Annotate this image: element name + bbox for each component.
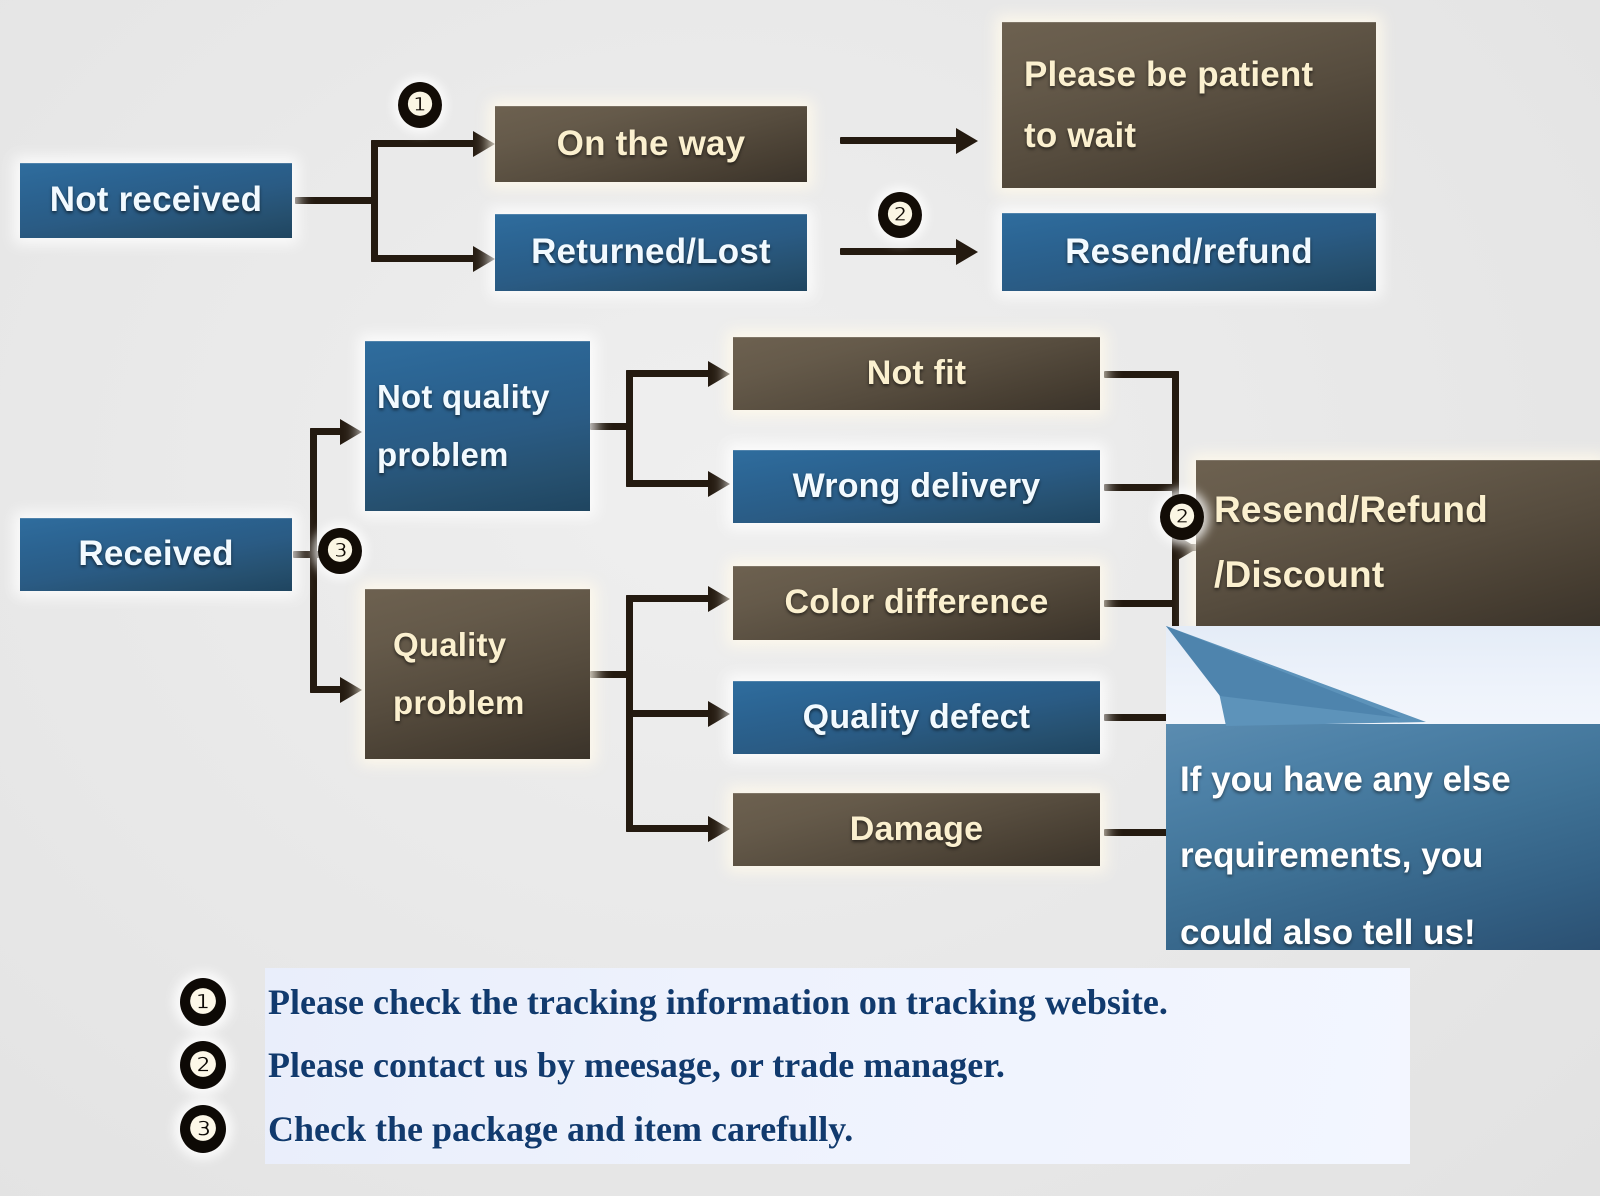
- node-not-fit[interactable]: Not fit: [733, 337, 1100, 410]
- legend-number-3: ❸: [180, 1105, 226, 1153]
- connector-to-wrong-delivery: [626, 480, 714, 487]
- callout-text-box[interactable]: If you have any else requirements, you c…: [1166, 724, 1600, 950]
- flowchart-canvas: Not received ❶ On the way Returned/Lost …: [0, 0, 1600, 1196]
- arrowhead-to-color-difference: [708, 586, 730, 612]
- node-quality-problem-label: Quality problem: [393, 616, 562, 732]
- node-resend-refund-discount-label: Resend/Refund /Discount: [1214, 478, 1582, 608]
- quality-line-2: problem: [393, 684, 525, 721]
- node-on-the-way[interactable]: On the way: [495, 106, 807, 182]
- arrowhead-to-not-quality: [340, 419, 362, 445]
- arrowhead-to-quality-defect: [708, 701, 730, 727]
- node-quality-problem[interactable]: Quality problem: [365, 589, 590, 759]
- node-resend-refund[interactable]: Resend/refund: [1002, 213, 1376, 291]
- node-please-be-patient[interactable]: Please be patient to wait: [1002, 22, 1376, 188]
- node-not-received[interactable]: Not received: [20, 163, 292, 238]
- node-not-quality-problem[interactable]: Not quality problem: [365, 341, 590, 511]
- node-damage[interactable]: Damage: [733, 793, 1100, 866]
- connector-to-returned-lost: [371, 255, 479, 262]
- step-marker-2-middle: ❷: [1160, 494, 1204, 540]
- connector-not-fit-out: [1104, 371, 1179, 378]
- legend-number-2: ❷: [180, 1041, 226, 1089]
- arrowhead-to-returned-lost: [473, 246, 495, 272]
- connector-returned-to-resend: [840, 248, 962, 255]
- connector-to-damage: [626, 825, 714, 832]
- arrowhead-to-quality: [340, 677, 362, 703]
- connector-not-received-vertical: [371, 140, 378, 262]
- legend-row-2: ❷ Please contact us by meesage, or trade…: [180, 1041, 1005, 1089]
- step-marker-1-top: ❶: [398, 82, 442, 128]
- connector-received-vertical: [310, 428, 317, 693]
- arrowhead-to-on-the-way: [473, 131, 495, 157]
- node-color-difference-label: Color difference: [733, 581, 1100, 625]
- node-received[interactable]: Received: [20, 518, 292, 591]
- callout-line-1: If you have any else: [1180, 742, 1588, 818]
- quality-line-1: Quality: [393, 626, 506, 663]
- node-resend-refund-discount[interactable]: Resend/Refund /Discount: [1196, 460, 1600, 626]
- node-returned-lost-label: Returned/Lost: [495, 230, 807, 275]
- connector-wrong-delivery-out: [1104, 484, 1179, 491]
- connector-not-received-stub: [295, 197, 375, 204]
- legend-row-1: ❶ Please check the tracking information …: [180, 978, 1168, 1026]
- callout-line-3: could also tell us!: [1180, 895, 1588, 971]
- node-not-received-label: Not received: [20, 178, 292, 223]
- node-wrong-delivery-label: Wrong delivery: [733, 465, 1100, 509]
- connector-on-the-way-to-wait: [840, 137, 962, 144]
- node-resend-refund-label: Resend/refund: [1002, 230, 1376, 275]
- connector-to-not-fit: [626, 370, 714, 377]
- connector-to-color-difference: [626, 595, 714, 602]
- arrowhead-returned-to-resend: [956, 239, 978, 265]
- patient-line-1: Please be patient: [1024, 55, 1313, 94]
- node-quality-defect-label: Quality defect: [733, 696, 1100, 740]
- patient-line-2: to wait: [1024, 116, 1136, 155]
- node-received-label: Received: [20, 532, 292, 577]
- arrowhead-on-the-way-to-wait: [956, 128, 978, 154]
- connector-color-difference-out: [1104, 600, 1179, 607]
- not-quality-line-1: Not quality: [377, 378, 550, 415]
- not-quality-line-2: problem: [377, 436, 509, 473]
- legend-text-2: Please contact us by meesage, or trade m…: [268, 1044, 1005, 1086]
- node-please-be-patient-label: Please be patient to wait: [1024, 44, 1354, 167]
- node-wrong-delivery[interactable]: Wrong delivery: [733, 450, 1100, 523]
- node-not-quality-problem-label: Not quality problem: [377, 368, 578, 484]
- node-returned-lost[interactable]: Returned/Lost: [495, 214, 807, 291]
- node-damage-label: Damage: [733, 808, 1100, 852]
- legend-text-3: Check the package and item carefully.: [268, 1108, 853, 1150]
- connector-to-on-the-way: [371, 140, 479, 147]
- arrowhead-to-not-fit: [708, 361, 730, 387]
- arrowhead-to-wrong-delivery: [708, 471, 730, 497]
- callout-line-2: requirements, you: [1180, 818, 1588, 894]
- legend-text-1: Please check the tracking information on…: [268, 981, 1168, 1023]
- step-marker-2-top: ❷: [878, 192, 922, 238]
- node-on-the-way-label: On the way: [495, 122, 807, 167]
- callout-tail-icon: [1166, 626, 1600, 736]
- legend-number-1: ❶: [180, 978, 226, 1026]
- legend-row-3: ❸ Check the package and item carefully.: [180, 1105, 853, 1153]
- node-quality-defect[interactable]: Quality defect: [733, 681, 1100, 754]
- connector-to-quality-defect: [626, 710, 714, 717]
- node-color-difference[interactable]: Color difference: [733, 566, 1100, 640]
- outcome-line-2: /Discount: [1214, 554, 1384, 595]
- node-not-fit-label: Not fit: [733, 352, 1100, 396]
- outcome-line-1: Resend/Refund: [1214, 489, 1488, 530]
- step-marker-3: ❸: [318, 528, 362, 574]
- arrowhead-to-damage: [708, 816, 730, 842]
- callout-container: If you have any else requirements, you c…: [1166, 626, 1600, 950]
- connector-not-quality-vertical: [626, 370, 633, 487]
